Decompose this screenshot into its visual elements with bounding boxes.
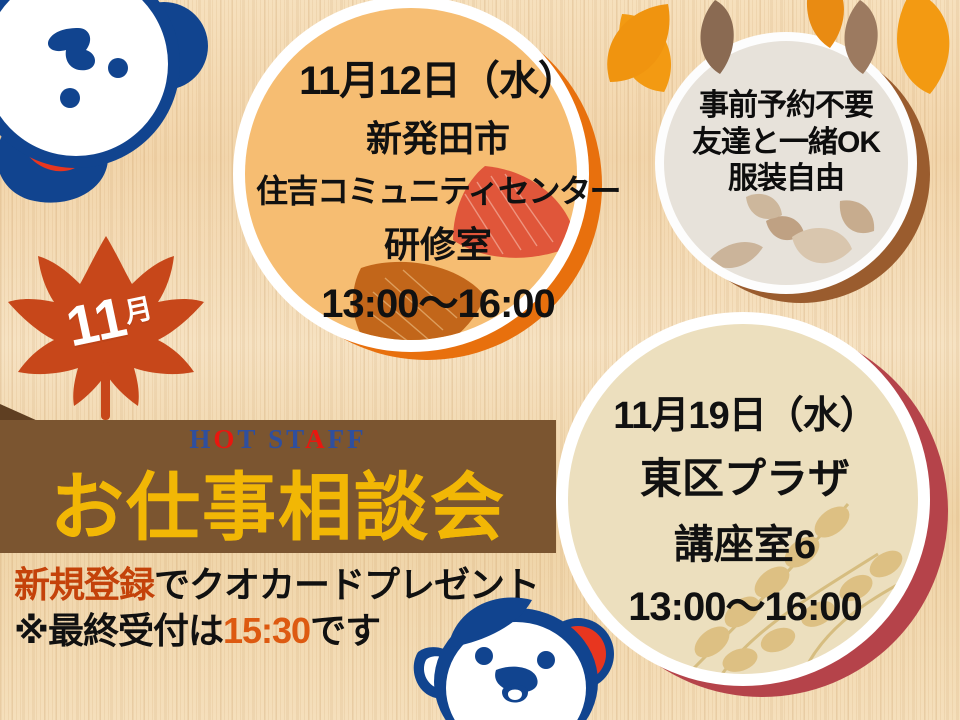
event1-date: 11月12日（水） (228, 48, 648, 106)
notes-text-block: 事前予約不要 友達と一緒OK 服装自由 (660, 88, 912, 198)
mascot-character-bottom (410, 594, 620, 720)
event1-time: 13:00〜16:00 (228, 271, 648, 329)
page-title: お仕事相談会 (0, 448, 556, 555)
mascot-character-top (0, 0, 208, 204)
event2-time: 13:00〜16:00 (570, 574, 920, 632)
month-number: 11 (61, 284, 132, 358)
event1-room: 研修室 (228, 216, 648, 268)
poster-canvas: 11月12日（水） 新発田市 住吉コミュニティセンター 研修室 13:00〜16… (0, 0, 960, 720)
notes-line-1: 事前予約不要 (660, 88, 912, 125)
footer-line-2-suffix: です (310, 610, 380, 651)
footer-last-reception-time: 15:30 (223, 610, 310, 651)
event2-date: 11月19日（水） (570, 384, 920, 439)
notes-line-3: 服装自由 (660, 161, 912, 198)
month-badge: 11月 (6, 222, 206, 422)
event1-city: 新発田市 (228, 110, 648, 162)
notes-line-2: 友達と一緒OK (660, 125, 912, 162)
footer-highlight-new-registration: 新規登録 (14, 564, 154, 605)
event2-venue: 東区プラザ (570, 445, 920, 506)
event2-text-block: 11月19日（水） 東区プラザ 講座室6 13:00〜16:00 (570, 384, 920, 632)
footer-line-2: ※最終受付は15:30です (14, 602, 380, 654)
footer-line-2-prefix: ※最終受付は (14, 610, 223, 651)
month-unit: 月 (122, 292, 156, 328)
event2-room: 講座室6 (570, 512, 920, 570)
event1-text-block: 11月12日（水） 新発田市 住吉コミュニティセンター 研修室 13:00〜16… (228, 48, 648, 329)
event1-venue: 住吉コミュニティセンター (228, 166, 648, 212)
